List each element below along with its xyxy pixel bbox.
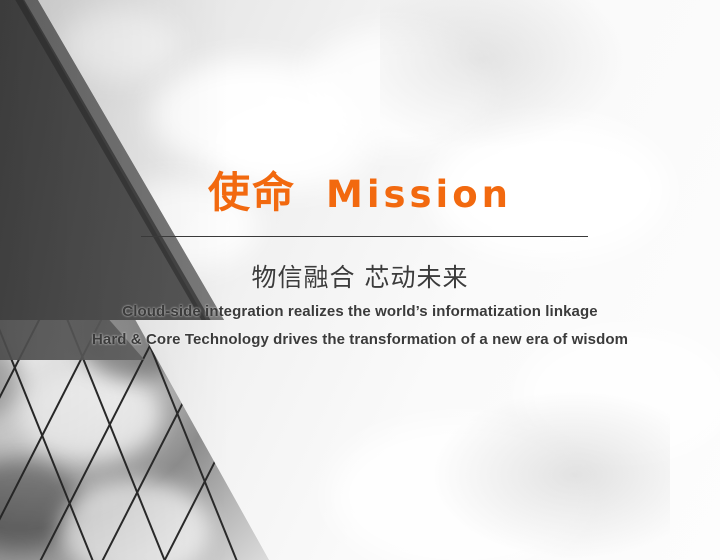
page-title-cn: 使命 xyxy=(208,168,296,217)
page-title-en: Mission xyxy=(326,173,512,216)
title-divider xyxy=(141,236,588,237)
banner-content: 使命Mission 物信融合 芯动未来 Cloud-side integrati… xyxy=(0,0,720,560)
mission-banner: 使命Mission 物信融合 芯动未来 Cloud-side integrati… xyxy=(0,0,720,560)
tagline-line-1: Cloud-side integration realizes the worl… xyxy=(0,303,720,320)
tagline-line-2: Hard & Core Technology drives the transf… xyxy=(0,331,720,348)
subtitle-cn: 物信融合 芯动未来 xyxy=(0,258,720,294)
page-title: 使命Mission xyxy=(0,172,720,214)
